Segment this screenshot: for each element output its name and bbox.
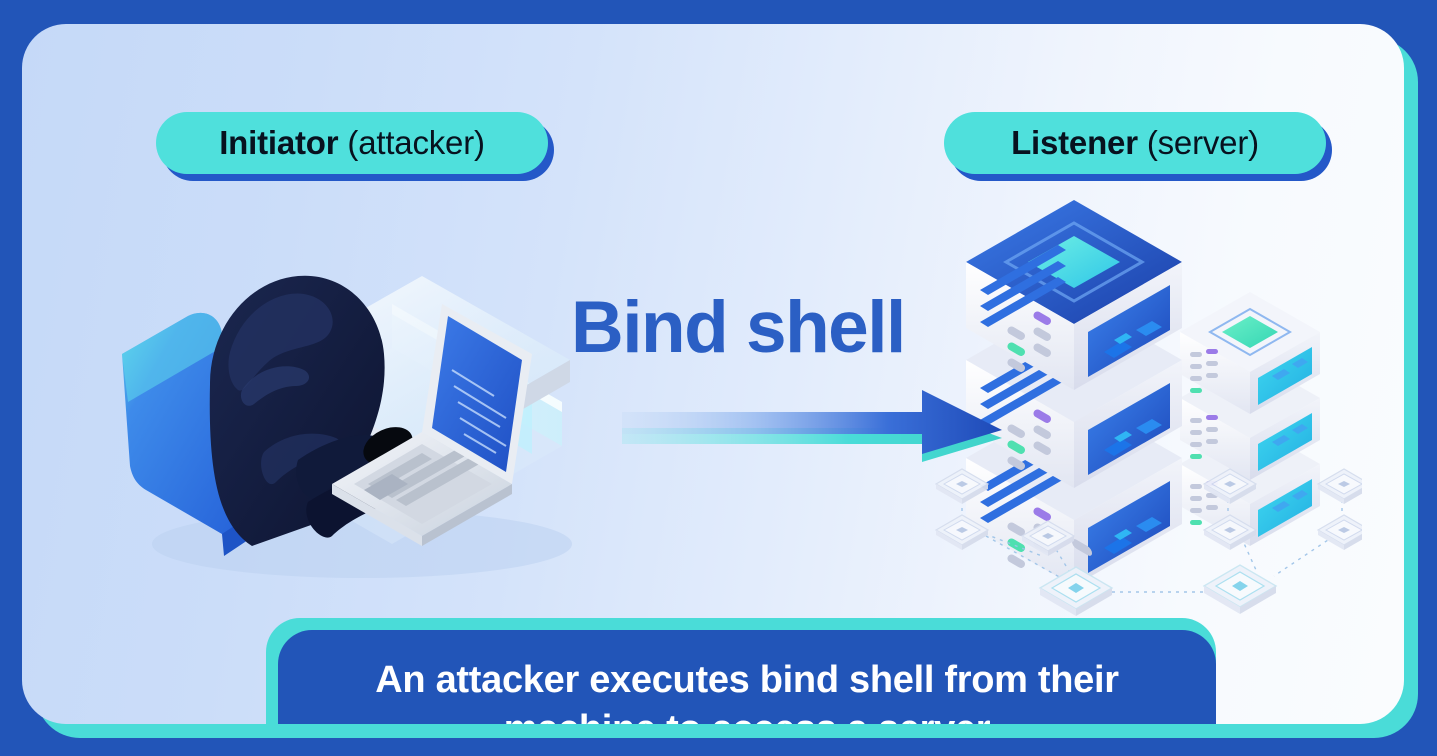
diagram-frame: Bind shell Initiator (attacker) Listener… [0, 0, 1437, 756]
right-arrow-icon [622, 382, 1002, 462]
hacker-at-laptop-icon [92, 184, 652, 584]
diagram-panel: Bind shell Initiator (attacker) Listener… [22, 24, 1404, 724]
listener-qualifier-label: (server) [1147, 124, 1259, 162]
listener-badge[interactable]: Listener (server) [944, 112, 1326, 174]
caption-banner: An attacker executes bind shell from the… [278, 630, 1216, 724]
listener-badge-body: Listener (server) [944, 112, 1326, 174]
initiator-role-label: Initiator [219, 124, 338, 162]
listener-role-label: Listener [1011, 124, 1138, 162]
initiator-badge-body: Initiator (attacker) [156, 112, 548, 174]
page-title: Bind shell [571, 286, 905, 369]
initiator-badge[interactable]: Initiator (attacker) [156, 112, 548, 174]
initiator-qualifier-label: (attacker) [347, 124, 484, 162]
caption-text: An attacker executes bind shell from the… [308, 656, 1186, 724]
